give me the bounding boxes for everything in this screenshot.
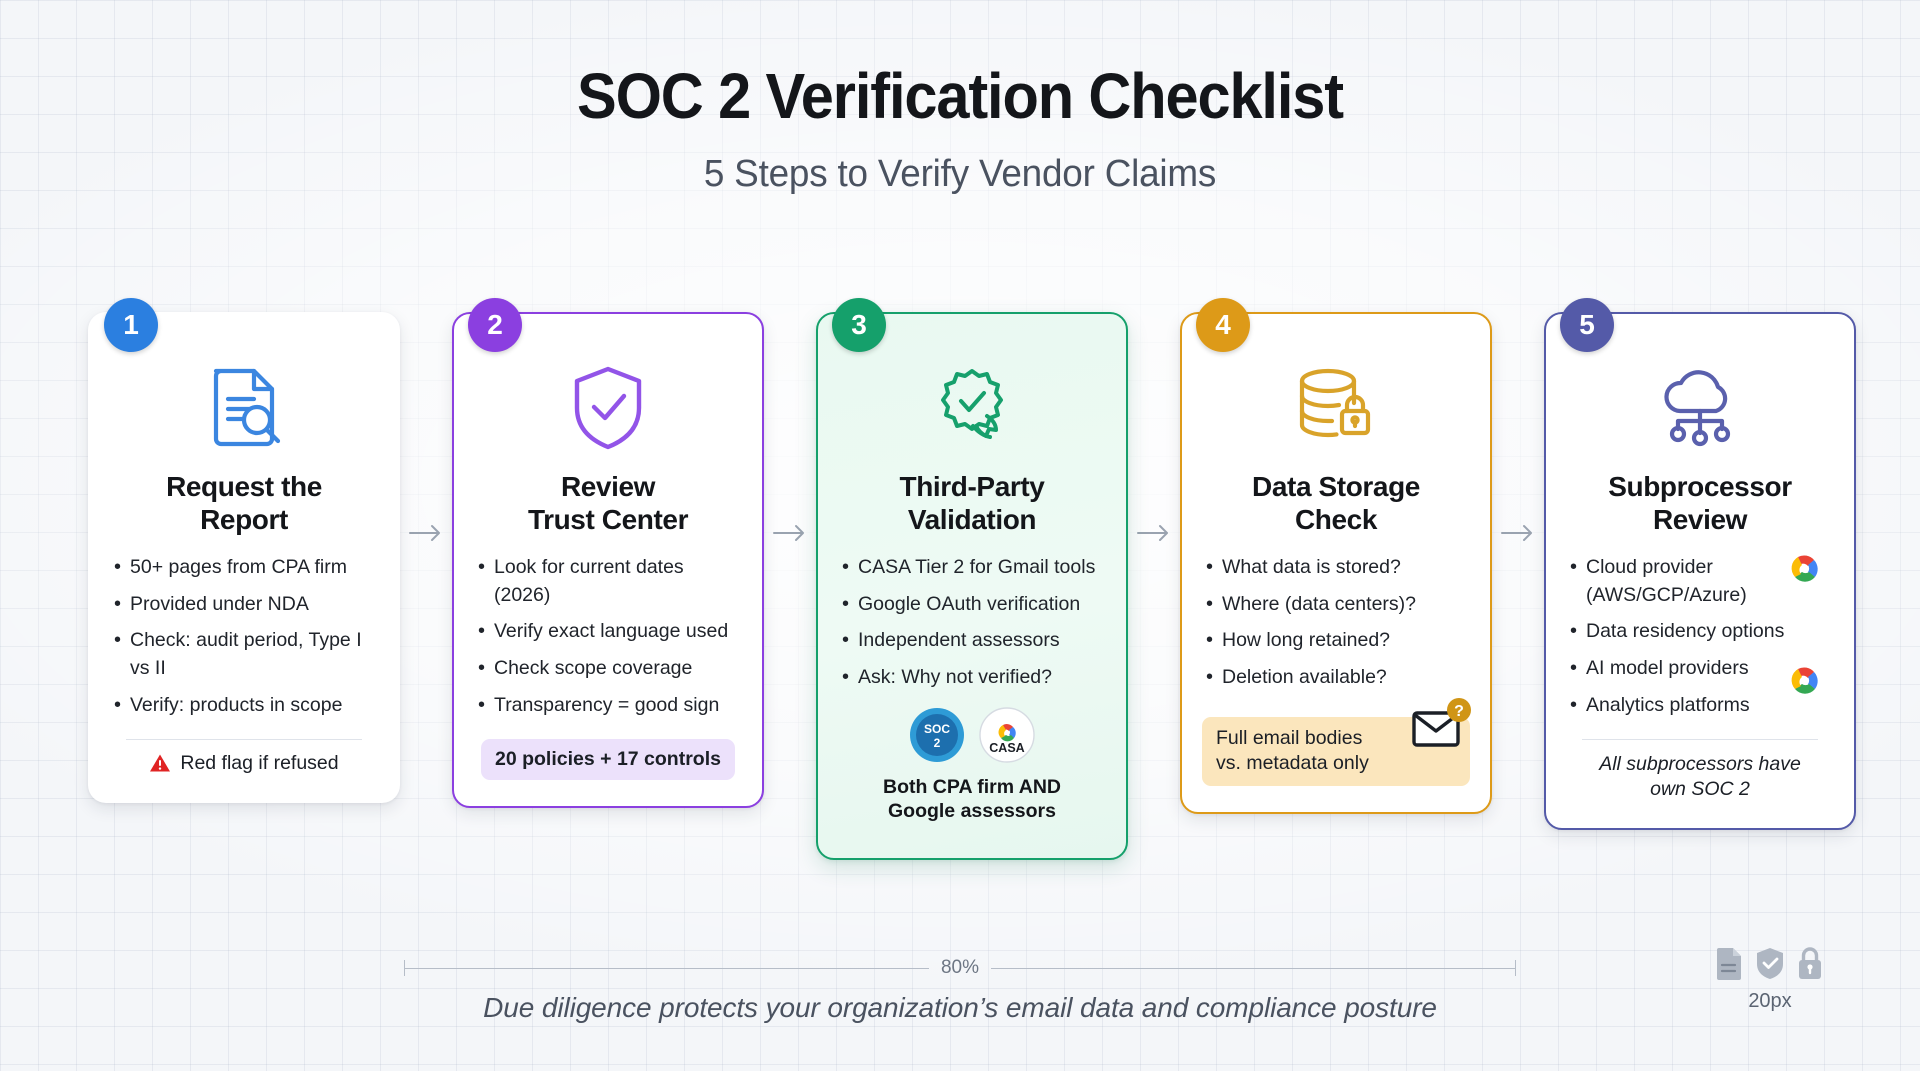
step-bullets-1: 50+ pages from CPA firm Provided under N… [110, 554, 378, 728]
measure-line-right [991, 968, 1515, 969]
legend-label: 20px [1700, 990, 1840, 1013]
list-item: Ask: Why not verified? [838, 664, 1106, 692]
step-badge-4: 4 [1196, 298, 1250, 352]
list-item: Check: audit period, Type I vs II [110, 627, 378, 682]
header: SOC 2 Verification Checklist 5 Steps to … [0, 62, 1920, 196]
list-item: Transparency = good sign [474, 692, 742, 720]
arrow-connector-4-5 [1492, 524, 1544, 542]
step-card-review-trust-center[interactable]: 2 Review Trust Center Look for current d… [452, 312, 764, 808]
step-card-request-the-report[interactable]: 1 Request the Report 50+ pages from CP [88, 312, 400, 803]
arrow-connector-1-2 [400, 524, 452, 542]
step-title-line1: Review [561, 471, 655, 502]
list-item: Where (data centers)? [1202, 591, 1470, 619]
step-footnote-5: All subprocessors have own SOC 2 [1599, 752, 1801, 803]
list-item: What data is stored? [1202, 554, 1470, 582]
database-lock-icon [1294, 362, 1378, 454]
legend-icon-row [1700, 946, 1840, 980]
step-badge-3: 3 [832, 298, 886, 352]
svg-text:2: 2 [934, 736, 941, 750]
step-title-line2: Review [1653, 504, 1747, 535]
step-card-data-storage-check[interactable]: 4 Data Storage [1180, 312, 1492, 814]
list-item: Provided under NDA [110, 591, 378, 619]
email-scope-callout: Full email bodies vs. metadata only ? [1202, 717, 1470, 786]
list-item: Look for current dates (2026) [474, 554, 742, 609]
envelope-question-icon: ? [1410, 697, 1474, 751]
step-title-line1: Subprocessor [1608, 471, 1791, 502]
list-item: CASA Tier 2 for Gmail tools [838, 554, 1106, 582]
arrow-connector-2-3 [764, 524, 816, 542]
list-item: Independent assessors [838, 627, 1106, 655]
step-footnote-line1: All subprocessors have [1599, 753, 1801, 775]
measure-label: 80% [929, 957, 991, 979]
step-title-2: Review Trust Center [528, 470, 688, 536]
step-card-third-party-validation[interactable]: 3 Third-Party Validation CASA Tier 2 for… [816, 312, 1128, 860]
step-footnote-line1: Both CPA firm AND [883, 776, 1061, 798]
casa-seal: CASA [979, 707, 1035, 763]
callout-line2: vs. metadata only [1216, 752, 1369, 774]
certificate-rosette-icon [929, 362, 1015, 454]
step-badge-1: 1 [104, 298, 158, 352]
step-title-line2: Report [200, 504, 288, 535]
step-badge-5: 5 [1560, 298, 1614, 352]
step-bullets-3: CASA Tier 2 for Gmail tools Google OAuth… [838, 554, 1106, 701]
step-footnote-line2: own SOC 2 [1650, 778, 1750, 800]
step-title-line1: Request the [166, 471, 322, 502]
step-badge-2: 2 [468, 298, 522, 352]
callout-line1: Full email bodies [1216, 727, 1362, 749]
step-title-line1: Third-Party [900, 471, 1045, 502]
footer-tagline: Due diligence protects your organization… [0, 992, 1920, 1024]
step-title-3: Third-Party Validation [900, 470, 1045, 536]
list-item: Data residency options [1566, 618, 1834, 646]
step-footnote-1: Red flag if refused [149, 752, 338, 775]
step-card-slot-1: 1 Request the Report 50+ pages from CP [88, 312, 400, 803]
warning-triangle-icon [149, 753, 171, 773]
google-cloud-logo-icon [1784, 662, 1826, 696]
svg-text:?: ? [1454, 703, 1464, 720]
shield-check-icon [569, 362, 647, 454]
step-title-1: Request the Report [166, 470, 322, 536]
list-item: Deletion available? [1202, 664, 1470, 692]
icon-size-legend: 20px [1700, 946, 1840, 1013]
arrow-connector-3-4 [1128, 524, 1180, 542]
step-footnote-label: Red flag if refused [180, 752, 338, 775]
steps-row: 1 Request the Report 50+ pages from CP [88, 312, 1832, 860]
google-cloud-logo-icon [1784, 550, 1826, 584]
step-bullets-4: What data is stored? Where (data centers… [1202, 554, 1470, 701]
divider [126, 739, 362, 740]
page-subtitle: 5 Steps to Verify Vendor Claims [29, 153, 1891, 196]
step-title-5: Subprocessor Review [1608, 470, 1791, 536]
list-item: Google OAuth verification [838, 591, 1106, 619]
measurement-annotation: 80% [404, 955, 1516, 981]
document-icon [1715, 946, 1745, 980]
cloud-network-icon [1654, 362, 1746, 454]
assessor-seals: SOC 2 CASA [909, 707, 1035, 763]
step-title-line2: Validation [908, 504, 1036, 535]
infographic-page: SOC 2 Verification Checklist 5 Steps to … [0, 0, 1920, 1071]
document-search-icon [204, 362, 284, 454]
list-item: Check scope coverage [474, 655, 742, 683]
step-footnote-3: Both CPA firm AND Google assessors [883, 775, 1061, 824]
soc2-seal: SOC 2 [909, 707, 965, 763]
lock-icon [1795, 946, 1825, 980]
measure-line-left [405, 968, 929, 969]
step-card-slot-2: 2 Review Trust Center Look for current d… [452, 312, 764, 808]
step-card-slot-3: 3 Third-Party Validation CASA Tier 2 for… [816, 312, 1128, 860]
step-card-slot-4: 4 Data Storage [1180, 312, 1492, 814]
step-bullets-2: Look for current dates (2026) Verify exa… [474, 554, 742, 728]
step-footnote-line2: Google assessors [888, 800, 1056, 822]
svg-text:CASA: CASA [989, 741, 1024, 755]
step-title-line1: Data Storage [1252, 471, 1420, 502]
step-bullets-5: Cloud provider (AWS/GCP/Azure) Data resi… [1566, 554, 1834, 728]
step-title-line2: Check [1295, 504, 1377, 535]
step-card-subprocessor-review[interactable]: 5 Subprocessor Review Cloud provider ( [1544, 312, 1856, 830]
list-item: 50+ pages from CPA firm [110, 554, 378, 582]
measure-cap-right [1515, 960, 1516, 976]
list-item: Verify exact language used [474, 618, 742, 646]
step-card-slot-5: 5 Subprocessor Review Cloud provider ( [1544, 312, 1856, 830]
page-title: SOC 2 Verification Checklist [67, 62, 1853, 131]
list-item: Verify: products in scope [110, 692, 378, 720]
step-title-line2: Trust Center [528, 504, 688, 535]
list-item: How long retained? [1202, 627, 1470, 655]
divider [1582, 739, 1818, 740]
step-title-4: Data Storage Check [1252, 470, 1420, 536]
shield-check-icon [1755, 946, 1785, 980]
svg-text:SOC: SOC [924, 722, 950, 736]
policies-controls-badge: 20 policies + 17 controls [481, 739, 735, 780]
